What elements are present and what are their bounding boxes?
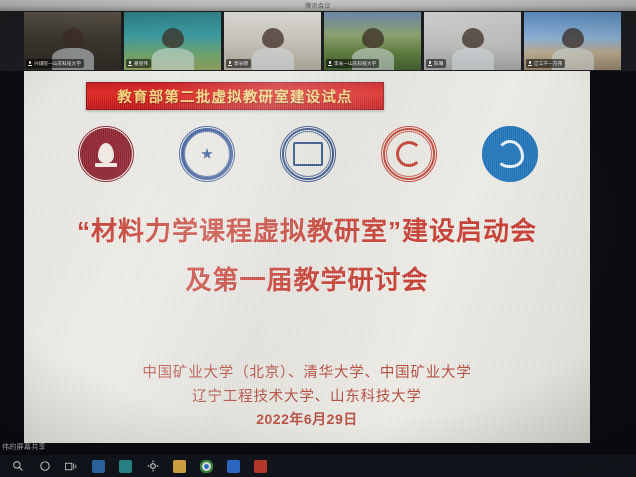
participant-name-badge: 郭长明 — [226, 59, 251, 68]
shared-presentation-slide: 教育部第二批虚拟教研室建设试点 “材料力学课程虚拟教研室”建设启动会 及第一届教… — [24, 71, 590, 443]
participant-name: 兴煤院—山东科技大学 — [34, 61, 81, 67]
participant-name: 辽工干—方伟 — [534, 61, 562, 67]
participant-tile[interactable]: 辽工干—方伟 — [524, 12, 621, 70]
participant-tile[interactable]: 陈曦 — [424, 12, 521, 70]
participant-name: 郭长明 — [234, 61, 248, 67]
participant-body — [252, 48, 294, 70]
participant-name: 李永—山东科技大学 — [334, 61, 376, 67]
microphone-icon — [228, 61, 232, 67]
search-icon[interactable] — [4, 455, 31, 477]
participant-tile[interactable]: 郭长明 — [224, 12, 321, 70]
task-view-icon[interactable] — [58, 455, 85, 477]
participant-name-badge: 陈曦 — [426, 59, 446, 68]
screen-share-status: 伟的屏幕共享 — [2, 442, 46, 452]
chrome-icon[interactable] — [193, 455, 220, 477]
display-app-icon[interactable] — [85, 455, 112, 477]
slide-banner-text: 教育部第二批虚拟教研室建设试点 — [117, 86, 353, 107]
participant-name: 陈曦 — [434, 61, 443, 67]
file-explorer-icon[interactable] — [166, 455, 193, 477]
windows-taskbar — [0, 455, 636, 477]
participant-head — [362, 28, 384, 48]
settings-gear-icon[interactable] — [139, 455, 166, 477]
wechat-app-icon[interactable] — [112, 455, 139, 477]
microphone-icon — [328, 61, 332, 67]
participant-tile[interactable]: 兴煤院—山东科技大学 — [24, 12, 121, 70]
participant-tile[interactable]: 翟绍伟 — [124, 12, 221, 70]
slide-banner: 教育部第二批虚拟教研室建设试点 — [86, 82, 384, 110]
participant-head — [262, 28, 284, 48]
projected-screen-photo: 腾讯会议 兴煤院—山东科技大学翟绍伟郭长明李永—山东科技大学陈曦辽工干—方伟 教… — [0, 0, 636, 477]
shandong-university-of-science-technology-logo — [482, 126, 538, 182]
participant-tile[interactable]: 李永—山东科技大学 — [324, 12, 421, 70]
participant-head — [462, 28, 484, 48]
participant-video-strip: 兴煤院—山东科技大学翟绍伟郭长明李永—山东科技大学陈曦辽工干—方伟 — [0, 11, 636, 71]
china-university-of-mining-technology-logo — [280, 126, 336, 182]
participant-head — [162, 28, 184, 48]
microphone-icon — [128, 61, 132, 67]
slide-subtitle-line-2: 辽宁工程技术大学、山东科技大学 — [24, 385, 590, 406]
participant-name-badge: 翟绍伟 — [126, 59, 151, 68]
participant-name-badge: 辽工干—方伟 — [526, 59, 565, 68]
microphone-icon — [28, 61, 32, 67]
meeting-window-title: 腾讯会议 — [305, 1, 331, 10]
china-university-of-mining-technology-beijing-logo — [78, 126, 134, 182]
tsinghua-university-logo — [179, 126, 235, 182]
participant-name-badge: 兴煤院—山东科技大学 — [26, 59, 84, 68]
slide-title-line-2: 及第一届教学研讨会 — [24, 260, 590, 297]
participant-name-badge: 李永—山东科技大学 — [326, 59, 379, 68]
recording-app-icon[interactable] — [247, 455, 274, 477]
participant-body — [452, 48, 494, 70]
participant-head — [62, 28, 84, 48]
microphone-icon — [428, 61, 432, 67]
slide-subtitle-line-1: 中国矿业大学（北京）、清华大学、中国矿业大学 — [24, 361, 590, 382]
participant-body — [152, 48, 194, 70]
participant-head — [562, 28, 584, 48]
microphone-icon — [528, 61, 532, 67]
meeting-window-titlebar: 腾讯会议 — [0, 0, 636, 11]
participant-name: 翟绍伟 — [134, 61, 148, 67]
cortana-icon[interactable] — [31, 455, 58, 477]
wps-app-icon[interactable] — [220, 455, 247, 477]
slide-date: 2022年6月29日 — [24, 409, 590, 429]
university-logo-row — [78, 123, 538, 185]
liaoning-technical-university-logo — [381, 126, 437, 182]
slide-title-line-1: “材料力学课程虚拟教研室”建设启动会 — [24, 211, 590, 248]
